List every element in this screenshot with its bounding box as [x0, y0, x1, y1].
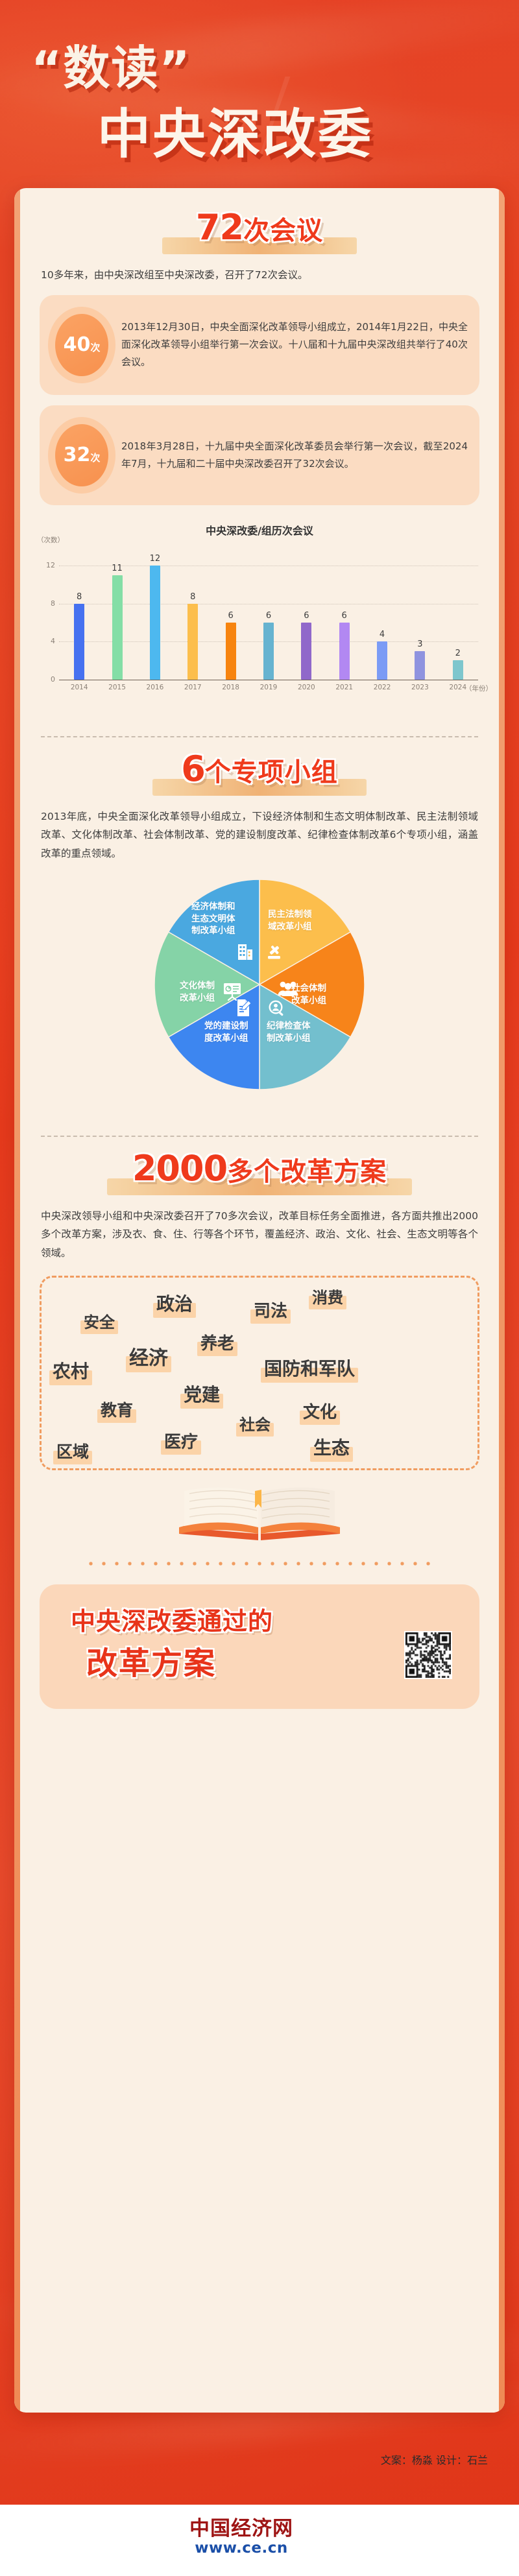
- chart-x-tick: 2022: [363, 684, 401, 691]
- chart-bar-value: 6: [266, 611, 271, 621]
- fact-row-40: 40次 2013年12月30日，中央全面深化改革领导小组成立，2014年1月22…: [40, 295, 479, 395]
- badge-40: 40次: [46, 305, 117, 385]
- chart-bar: 6: [326, 611, 363, 680]
- chart-bar: 8: [174, 592, 211, 680]
- chart-plot-area: （次数） 04812 8111286666432 201420152016201…: [37, 545, 478, 680]
- heading-suffix: 次会议: [243, 216, 323, 246]
- pie-slice-label: 党的建设制度改革小组: [204, 1020, 248, 1045]
- chart-bar-value: 8: [190, 592, 195, 602]
- logo-chinese-name: 中国经济网: [189, 2519, 293, 2539]
- chart-bar-column: [377, 641, 387, 679]
- word-cloud-item: 安全: [80, 1309, 118, 1334]
- title-line-1: “数读”: [31, 30, 191, 98]
- pie-slice-label: 文化体制改革小组: [180, 980, 215, 1005]
- section-intro-groups: 2013年底，中央全面深化改革领导小组成立，下设经济体制和生态文明体制改革、民主…: [41, 807, 478, 863]
- word-cloud-item: 消费: [309, 1284, 346, 1309]
- chart-y-tick: 8: [38, 599, 55, 608]
- hero-title-block: “数读” 中央深改委: [0, 0, 519, 214]
- word-cloud-item: 农村: [49, 1357, 92, 1385]
- inspect-icon: [268, 999, 286, 1018]
- title-line-2: 中央深改委: [97, 91, 373, 168]
- chart-bar: 6: [250, 611, 287, 680]
- word-cloud: 安全政治司法消费养老经济农村国防和军队党建教育文化社会医疗区域生态: [40, 1276, 479, 1470]
- site-logo[interactable]: 中国经济网 www.ce.cn: [189, 2519, 293, 2556]
- heading-number: 72: [196, 207, 243, 248]
- word-cloud-item: 社会: [236, 1411, 274, 1437]
- word-cloud-item: 教育: [97, 1397, 136, 1423]
- pie-slice-label: 纪律检查体制改革小组: [267, 1020, 311, 1045]
- chart-x-axis-unit: （年份）: [465, 684, 492, 693]
- chart-x-tick: 2018: [211, 684, 249, 691]
- chart-x-axis-line: [59, 680, 478, 680]
- people-icon: [277, 980, 299, 997]
- chart-x-tick: 2017: [174, 684, 211, 691]
- presentation-icon: [223, 981, 242, 1001]
- gavel-icon: [266, 944, 285, 960]
- word-cloud-item: 司法: [250, 1297, 291, 1324]
- chart-bar-value: 6: [342, 611, 347, 621]
- badge-32: 32次: [46, 416, 117, 495]
- chart-bars: 8111286666432: [60, 556, 477, 680]
- badge-unit: 次: [90, 452, 100, 464]
- chart-y-tick: 0: [38, 675, 55, 684]
- pie-slice-label: 经济体制和生态文明体制改革小组: [191, 901, 235, 938]
- bar-chart: 中央深改委/组历次会议 （次数） 04812 8111286666432 201…: [27, 522, 492, 680]
- qr-code[interactable]: [404, 1631, 452, 1679]
- word-cloud-item: 生态: [310, 1433, 353, 1462]
- chart-y-tick: 4: [38, 637, 55, 645]
- chart-bar-value: 3: [417, 639, 422, 649]
- chart-bar: 4: [363, 630, 401, 679]
- pie-slice-label: 民主法制领域改革小组: [268, 909, 312, 933]
- cta-line-2: 改革方案: [86, 1648, 216, 1679]
- section-heading-meetings: 72次会议: [20, 210, 499, 266]
- chart-bar-value: 12: [150, 554, 161, 564]
- word-cloud-item: 国防和军队: [261, 1354, 358, 1383]
- logo-url: www.ce.cn: [189, 2541, 293, 2556]
- chart-title: 中央深改委/组历次会议: [27, 522, 492, 538]
- pie-chart-groups: 经济体制和生态文明体制改革小组民主法制领域改革小组社会体制改革小组纪律检查体制改…: [152, 877, 367, 1091]
- chart-x-labels: 2014201520162017201820192020202120222023…: [60, 684, 477, 691]
- badge-number: 32: [64, 444, 91, 466]
- word-cloud-item: 养老: [197, 1330, 237, 1356]
- chart-bar-column: [453, 660, 463, 679]
- chart-bar: 6: [287, 611, 325, 680]
- buildings-icon: [237, 942, 254, 960]
- content-card: 72次会议 10多年来，由中央深改组至中央深改委，召开了72次会议。 40次 2…: [14, 188, 505, 2413]
- chart-x-tick: 2019: [250, 684, 287, 691]
- chart-bar: 12: [136, 554, 174, 679]
- section-intro-plans: 中央深改领导小组和中央深改委召开了70多次会议，改革目标任务全面推进，各方面共推…: [41, 1207, 478, 1263]
- chart-bar-column: [226, 623, 236, 680]
- badge-number: 40: [64, 333, 91, 356]
- word-cloud-item: 党建: [180, 1380, 223, 1409]
- footer-bar: 中国经济网 www.ce.cn: [0, 2505, 519, 2576]
- chart-x-tick: 2015: [98, 684, 136, 691]
- chart-bar: 11: [98, 564, 136, 680]
- chart-bar: 3: [401, 639, 439, 680]
- word-cloud-item: 经济: [126, 1341, 171, 1372]
- section-intro-meetings: 10多年来，由中央深改组至中央深改委，召开了72次会议。: [41, 266, 478, 285]
- chart-bar-column: [415, 651, 425, 680]
- open-book-illustration: [175, 1477, 344, 1544]
- chart-x-tick: 2020: [287, 684, 325, 691]
- chart-bar-column: [187, 604, 198, 680]
- section-heading-plans: 2000多个改革方案: [20, 1151, 499, 1207]
- chart-bar-value: 8: [77, 592, 82, 602]
- word-cloud-item: 区域: [53, 1438, 92, 1464]
- chart-bar: 8: [60, 592, 98, 680]
- chart-x-tick: 2021: [326, 684, 363, 691]
- heading-suffix: 多个改革方案: [227, 1157, 387, 1187]
- chart-y-tick: 12: [38, 561, 55, 569]
- chart-x-tick: 2023: [401, 684, 439, 691]
- chart-bar-value: 6: [304, 611, 309, 621]
- dotted-separator: [84, 1561, 435, 1566]
- chart-bar-value: 2: [455, 649, 461, 658]
- word-cloud-item: 文化: [300, 1398, 340, 1425]
- heading-suffix: 个专项小组: [205, 757, 338, 787]
- word-cloud-item: 政治: [153, 1289, 196, 1318]
- chart-bar-column: [263, 623, 274, 680]
- chart-bar: 6: [211, 611, 249, 680]
- cta-line-1: 中央深改委通过的: [71, 1609, 273, 1634]
- document-pen-icon: [235, 998, 254, 1018]
- cta-panel[interactable]: 中央深改委通过的 改革方案: [40, 1584, 479, 1709]
- chart-x-tick: 2014: [60, 684, 98, 691]
- word-cloud-item: 医疗: [161, 1428, 201, 1455]
- chart-bar-column: [301, 623, 311, 680]
- chart-bar-column: [112, 575, 123, 680]
- chart-bar-column: [339, 623, 350, 680]
- chart-bar-value: 6: [228, 611, 233, 621]
- fact-text-40: 2013年12月30日，中央全面深化改革领导小组成立，2014年1月22日，中央…: [121, 318, 468, 371]
- chart-bar-value: 4: [380, 630, 385, 639]
- chart-x-tick: 2016: [136, 684, 174, 691]
- heading-number: 2000: [132, 1148, 227, 1189]
- section-heading-groups: 6个专项小组: [20, 752, 499, 807]
- chart-bar-value: 11: [112, 564, 123, 573]
- badge-unit: 次: [90, 342, 100, 353]
- chart-y-axis-unit: （次数）: [37, 535, 64, 545]
- chart-bar-column: [150, 566, 160, 679]
- heading-number: 6: [181, 748, 205, 789]
- chart-bar: 2: [439, 649, 477, 679]
- chart-bar-column: [74, 604, 84, 680]
- fact-text-32: 2018年3月28日，十九届中央全面深化改革委员会举行第一次会议，截至2024年…: [121, 438, 468, 473]
- credits-line: 文案：杨淼 设计：石兰: [0, 2451, 519, 2467]
- fact-row-32: 32次 2018年3月28日，十九届中央全面深化改革委员会举行第一次会议，截至2…: [40, 405, 479, 505]
